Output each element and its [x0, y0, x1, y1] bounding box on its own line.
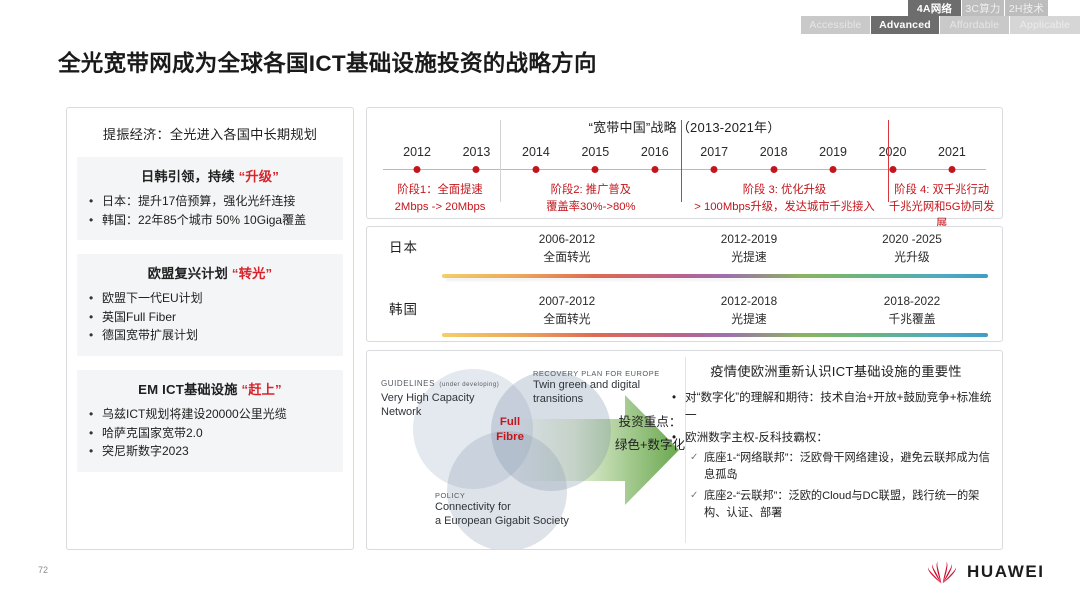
phase-label: 阶段2: 推广普及: [500, 182, 681, 199]
card-title-main: 日韩引领，持续: [141, 169, 235, 184]
timeline-year-label: 2013: [463, 145, 491, 159]
timeline-year-label: 2015: [581, 145, 609, 159]
sub-list-item: ✓ 底座2-“云联邦”：泛欧的Cloud与DC联盟，践行统一的架构、认证、部署: [672, 488, 1000, 523]
quote-close: ”: [275, 382, 282, 397]
tab-affordable[interactable]: Affordable: [940, 16, 1010, 34]
list-item: • 突尼斯数字2023: [85, 442, 335, 461]
japan-korea-roadmap-panel: 日本 2006-2012 全面转光 2012-2019 光提速 2020 -20…: [366, 226, 1003, 342]
timeline-phase: 阶段1：全面提速2Mbps -> 20Mbps: [380, 182, 501, 216]
roadmap-phase: 2007-2012 全面转光: [539, 293, 595, 328]
list-item: • 对“数字化”的理解和期待：技术自治+开放+鼓励竞争+标准统一: [672, 389, 1000, 425]
timeline-year-dot: [651, 166, 658, 173]
card-title: 欧盟复兴计划 “转光”: [85, 263, 335, 282]
page-number: 72: [38, 565, 48, 575]
timeline-year-dot: [592, 166, 599, 173]
timeline-year-label: 2017: [700, 145, 728, 159]
slide-canvas: 4A网络 3C算力 2H技术 Accessible Advanced Affor…: [0, 0, 1080, 607]
roadmap-phase: 2020 -2025 光升级: [882, 231, 942, 266]
tab-applicable[interactable]: Applicable: [1010, 16, 1080, 34]
list-item-label: 韩国：22年85个城市 50% 10Giga覆盖: [102, 211, 306, 230]
timeline-year-dot: [532, 166, 539, 173]
list-item-label: 突尼斯数字2023: [102, 442, 189, 461]
huawei-wordmark: HUAWEI: [967, 562, 1045, 582]
huawei-flower-icon: [925, 559, 959, 585]
investment-focus-note: 投资重点： 绿色+数字化: [604, 411, 696, 458]
tab-strip-4a: Accessible Advanced Affordable Applicabl…: [801, 16, 1080, 34]
bullet-dot: •: [89, 289, 102, 308]
tab-advanced[interactable]: Advanced: [871, 16, 940, 34]
list-item: • 英国Full Fiber: [85, 308, 335, 327]
timeline-year-dot: [889, 166, 896, 173]
roadmap-phase: 2012-2018 光提速: [721, 293, 777, 328]
venn-text-line: Connectivity for: [435, 500, 605, 514]
venn-label-recovery: RECOVERY PLAN FOR EUROPE Twin green and …: [533, 369, 673, 406]
eu-text-block: 疫情使欧洲重新认识ICT基础设施的重要性 • 对“数字化”的理解和期待：技术自治…: [672, 361, 1000, 522]
phase-desc: 千兆覆盖: [884, 311, 940, 329]
timeline-title: “宽带中国”战略（2013-2021年）: [367, 117, 1002, 136]
venn-cap-guidelines: GUIDELINES: [381, 379, 435, 388]
tab-strip-category: 4A网络 3C算力 2H技术: [908, 0, 1048, 16]
phase-period: 2012-2018: [721, 293, 777, 311]
tab-2h-technology[interactable]: 2H技术: [1005, 0, 1048, 16]
card-title-highlight: 升级: [245, 169, 272, 184]
phase-desc: 全面转光: [539, 249, 595, 267]
sub-list-item-label: 底座2-“云联邦”：泛欧的Cloud与DC联盟，践行统一的架构、认证、部署: [704, 488, 994, 523]
roadmap-phase: 2012-2019 光提速: [721, 231, 777, 266]
list-item: • 德国宽带扩展计划: [85, 326, 335, 345]
phase-desc: 光升级: [882, 249, 942, 267]
roadmap-bar-shadow: [446, 278, 984, 281]
bullet-dot: •: [89, 192, 102, 211]
phase-label: 阶段 3: 优化升级: [681, 182, 887, 199]
eu-heading: 疫情使欧洲重新认识ICT基础设施的重要性: [672, 361, 1000, 380]
card-title-highlight: 转光: [239, 266, 266, 281]
phase-sub: 2Mbps -> 20Mbps: [380, 199, 501, 216]
eu-ict-awareness-panel: GUIDELINES (under developing) Very High …: [366, 350, 1003, 550]
bullet-dot: •: [89, 405, 102, 424]
phase-period: 2012-2019: [721, 231, 777, 249]
timeline-year-dot: [711, 166, 718, 173]
check-icon: ✓: [690, 488, 704, 523]
tab-4a-network[interactable]: 4A网络: [908, 0, 962, 16]
venn-center-line1: Full: [479, 415, 541, 430]
investment-focus-label: 投资重点：: [604, 411, 696, 434]
list-item: • 乌兹ICT规划将建设20000公里光缆: [85, 405, 335, 424]
timeline-year-label: 2021: [938, 145, 966, 159]
venn-cap-recovery: RECOVERY PLAN FOR EUROPE: [533, 369, 673, 378]
venn-label-policy: POLICY Connectivity fora European Gigabi…: [435, 491, 605, 528]
left-panel-header: 提振经济：全光进入各国中长期规划: [77, 124, 343, 143]
roadmap-phase: 2006-2012 全面转光: [539, 231, 595, 266]
list-item-label: 乌兹ICT规划将建设20000公里光缆: [102, 405, 287, 424]
venn-text-line: Twin green and digital: [533, 378, 673, 392]
investment-focus-value: 绿色+数字化: [604, 434, 696, 457]
phase-period: 2018-2022: [884, 293, 940, 311]
phase-label: 阶段1：全面提速: [380, 182, 501, 199]
timeline-phase: 阶段 3: 优化升级> 100Mbps升级，发达城市千兆接入: [681, 182, 887, 216]
page-title: 全光宽带网成为全球各国ICT基础设施投资的战略方向: [58, 46, 597, 78]
phase-desc: 全面转光: [539, 311, 595, 329]
list-item-label: 对“数字化”的理解和期待：技术自治+开放+鼓励竞争+标准统一: [685, 389, 994, 425]
sub-list-item-label: 底座1-“网络联邦”：泛欧骨干网络建设，避免云联邦成为信息孤岛: [704, 450, 994, 485]
quote-close: ”: [272, 169, 279, 184]
country-label: 日本: [389, 236, 418, 256]
card-title-main: 欧盟复兴计划: [148, 266, 228, 281]
bullet-dot: •: [89, 326, 102, 345]
roadmap-gradient-bar: [442, 333, 988, 337]
national-plans-panel: 提振经济：全光进入各国中长期规划 日韩引领，持续 “升级” • 日本：提升17倍…: [66, 107, 354, 550]
sub-list-item: ✓ 底座1-“网络联邦”：泛欧骨干网络建设，避免云联邦成为信息孤岛: [672, 450, 1000, 485]
list-item-label: 德国宽带扩展计划: [102, 326, 198, 345]
venn-text-policy: Connectivity fora European Gigabit Socie…: [435, 500, 605, 528]
list-item-label: 日本：提升17倍预算，强化光纤连接: [102, 192, 295, 211]
timeline-year-label: 2018: [760, 145, 788, 159]
country-label: 韩国: [389, 298, 418, 318]
bullet-dot: •: [89, 211, 102, 230]
phase-period: 2020 -2025: [882, 231, 942, 249]
timeline-year-label: 2016: [641, 145, 669, 159]
phase-sub: 覆盖率30%->80%: [500, 199, 681, 216]
venn-text-line: transitions: [533, 392, 673, 406]
venn-cap-policy: POLICY: [435, 491, 605, 500]
timeline-axis: 2012201320142015201620172018201920202021: [367, 142, 1002, 182]
timeline-year-dot: [830, 166, 837, 173]
timeline-year-label: 2012: [403, 145, 431, 159]
bullet-dot: •: [89, 424, 102, 443]
venn-text-line: Very High Capacity: [381, 391, 501, 405]
quote-close: ”: [265, 266, 272, 281]
card-eu-recovery: 欧盟复兴计划 “转光” • 欧盟下一代EU计划 • 英国Full Fiber •…: [77, 254, 343, 356]
card-title: EM ICT基础设施 “赶上”: [85, 379, 335, 398]
broadband-china-timeline-panel: “宽带中国”战略（2013-2021年） 2012201320142015201…: [366, 107, 1003, 219]
phase-desc: 光提速: [721, 311, 777, 329]
timeline-year-dot: [473, 166, 480, 173]
venn-label-guidelines: GUIDELINES (under developing) Very High …: [381, 373, 501, 419]
venn-text-recovery: Twin green and digitaltransitions: [533, 378, 673, 406]
list-item: • 欧洲数字主权-反科技霸权：: [672, 429, 1000, 447]
roadmap-row-korea: 韩国 2007-2012 全面转光 2012-2018 光提速 2018-202…: [367, 289, 1002, 344]
bullet-dot: •: [89, 308, 102, 327]
timeline-year-label: 2019: [819, 145, 847, 159]
phase-period: 2006-2012: [539, 231, 595, 249]
tab-3c-computing[interactable]: 3C算力: [962, 0, 1005, 16]
quote-open: “: [232, 266, 239, 281]
list-item: • 日本：提升17倍预算，强化光纤连接: [85, 192, 335, 211]
tab-accessible[interactable]: Accessible: [801, 16, 871, 34]
list-item: • 韩国：22年85个城市 50% 10Giga覆盖: [85, 211, 335, 230]
phase-sub: > 100Mbps升级，发达城市千兆接入: [681, 199, 887, 216]
timeline-phase: 阶段2: 推广普及覆盖率30%->80%: [500, 182, 681, 216]
list-item-label: 欧盟下一代EU计划: [102, 289, 203, 308]
timeline-year-label: 2020: [879, 145, 907, 159]
phase-label: 阶段 4: 双千兆行动: [888, 182, 996, 199]
venn-center-line2: Fibre: [479, 430, 541, 445]
list-item-label: 欧洲数字主权-反科技霸权：: [685, 429, 828, 447]
roadmap-row-japan: 日本 2006-2012 全面转光 2012-2019 光提速 2020 -20…: [367, 227, 1002, 282]
card-japan-korea: 日韩引领，持续 “升级” • 日本：提升17倍预算，强化光纤连接 • 韩国：22…: [77, 157, 343, 240]
venn-text-line: a European Gigabit Society: [435, 514, 605, 528]
phase-desc: 光提速: [721, 249, 777, 267]
roadmap-phase: 2018-2022 千兆覆盖: [884, 293, 940, 328]
venn-circle-policy: [447, 431, 567, 549]
timeline-year-dot: [770, 166, 777, 173]
list-item-label: 哈萨克国家宽带2.0: [102, 424, 203, 443]
bullet-dot: •: [89, 442, 102, 461]
list-item-label: 英国Full Fiber: [102, 308, 176, 327]
huawei-logo: HUAWEI: [925, 559, 1045, 585]
card-title-main: EM ICT基础设施: [138, 382, 237, 397]
venn-cap-guidelines-note: (under developing): [439, 382, 499, 388]
card-title-highlight: 赶上: [248, 382, 275, 397]
list-item: • 哈萨克国家宽带2.0: [85, 424, 335, 443]
timeline-phases: 阶段1：全面提速2Mbps -> 20Mbps阶段2: 推广普及覆盖率30%->…: [367, 182, 1002, 222]
timeline-year-dot: [414, 166, 421, 173]
phase-period: 2007-2012: [539, 293, 595, 311]
venn-center-label: Full Fibre: [479, 415, 541, 445]
list-item: • 欧盟下一代EU计划: [85, 289, 335, 308]
timeline-year-label: 2014: [522, 145, 550, 159]
timeline-year-dot: [948, 166, 955, 173]
card-title: 日韩引领，持续 “升级”: [85, 166, 335, 185]
card-em-ict: EM ICT基础设施 “赶上” • 乌兹ICT规划将建设20000公里光缆 • …: [77, 370, 343, 472]
